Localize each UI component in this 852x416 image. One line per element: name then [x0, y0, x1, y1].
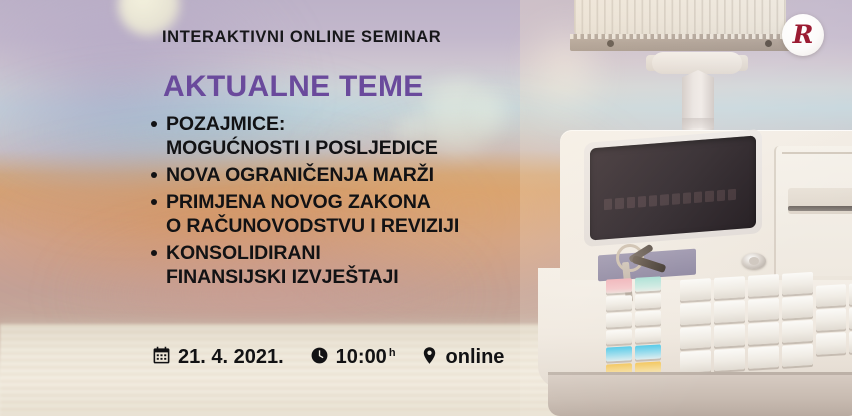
keypad-key [782, 320, 813, 343]
keypad-key [782, 272, 813, 295]
calendar-icon [152, 346, 171, 365]
list-item: POZAJMICE: MOGUĆNOSTI I POSLJEDICE [150, 112, 459, 160]
keypad-key [782, 296, 813, 319]
printer-bay-seam [782, 152, 852, 154]
keypad-key [606, 346, 632, 362]
pole-display-stem-band [682, 118, 714, 128]
keypad-key [680, 302, 711, 325]
keypad-key [635, 276, 661, 292]
pole-screw [765, 40, 772, 47]
keypad-key [680, 326, 711, 349]
kicker-text: INTERAKTIVNI ONLINE SEMINAR [162, 28, 441, 47]
pole-display-bar-teeth [570, 34, 792, 39]
keypad-key [782, 344, 813, 367]
revicon-logo[interactable]: R [782, 14, 824, 56]
event-date: 21. 4. 2021. [152, 344, 284, 369]
keypad-key [816, 332, 846, 355]
clock-icon [310, 346, 329, 365]
list-item: PRIMJENA NOVOG ZAKONA O RAČUNOVODSTVU I … [150, 190, 459, 238]
event-details-row: 21. 4. 2021. 10:00 h [152, 344, 504, 369]
cash-register-image [520, 0, 852, 416]
event-location-text: online [446, 346, 505, 369]
keypad-key [635, 310, 661, 326]
list-item: NOVA OGRANIČENJA MARŽI [150, 163, 459, 187]
banner-text-block: INTERAKTIVNI ONLINE SEMINAR AKTUALNE TEM… [0, 0, 560, 416]
keypad-key [635, 327, 661, 343]
event-time-text: 10:00 [336, 346, 387, 369]
pole-display-vents [574, 0, 786, 34]
department-keypad [816, 282, 852, 355]
register-base-seam [548, 372, 852, 375]
location-pin-icon [420, 346, 439, 365]
keypad-key [714, 348, 745, 371]
event-location: online [420, 344, 505, 369]
keypad-key [606, 278, 632, 294]
keypad-key [606, 329, 632, 345]
keypad-key [606, 312, 632, 328]
keypad-key [816, 308, 846, 331]
mode-lock-center [749, 257, 759, 265]
topic-list: POZAJMICE: MOGUĆNOSTI I POSLJEDICE NOVA … [150, 112, 459, 292]
keypad-key [714, 300, 745, 323]
keypad-key [748, 346, 779, 369]
receipt-slot-opening [788, 206, 852, 211]
keypad-key [680, 278, 711, 301]
keypad-key [816, 284, 846, 307]
keypad-key [606, 295, 632, 311]
event-time: 10:00 h [310, 344, 394, 369]
keypad-key [635, 293, 661, 309]
keypad-key [748, 274, 779, 297]
keypad-key [714, 324, 745, 347]
page-title: AKTUALNE TEME [163, 70, 424, 104]
register-base [548, 372, 852, 416]
keypad-key [635, 344, 661, 360]
keypad-key [748, 298, 779, 321]
keypad-key [680, 350, 711, 373]
numeric-keypad [680, 272, 813, 373]
logo-letter: R [793, 22, 814, 47]
event-time-unit: h [389, 347, 396, 359]
seminar-promo-banner: INTERAKTIVNI ONLINE SEMINAR AKTUALNE TEM… [0, 0, 852, 416]
list-item: KONSOLIDIRANI FINANSIJSKI IZVJEŠTAJI [150, 241, 459, 289]
keypad-key [714, 276, 745, 299]
event-date-text: 21. 4. 2021. [178, 346, 284, 369]
keypad-key [748, 322, 779, 345]
pole-screw [607, 40, 614, 47]
